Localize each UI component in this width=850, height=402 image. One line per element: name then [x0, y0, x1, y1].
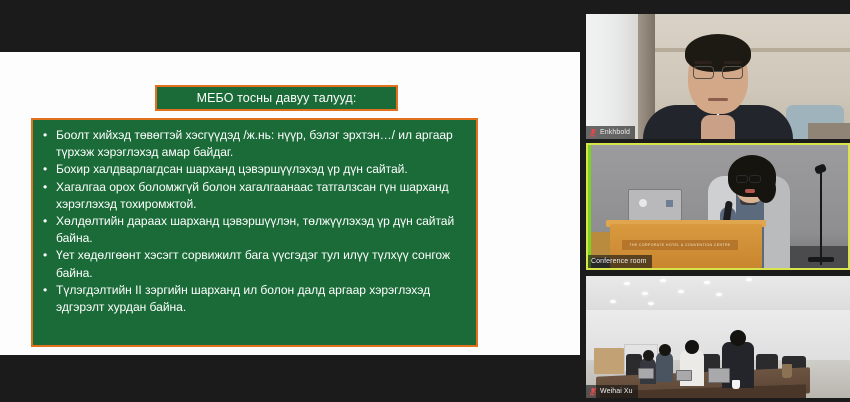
participant-name-chip-3: Weihai Xu [586, 385, 638, 398]
participant-tile-3[interactable]: Weihai Xu [586, 276, 850, 398]
attendee-head [730, 330, 746, 346]
mouth [745, 189, 755, 193]
mic-muted-icon [589, 128, 597, 138]
participant-video-feed-1 [586, 14, 850, 139]
participant-name-3: Weihai Xu [600, 385, 633, 398]
participant-name-chip-1: Enkhbold [586, 126, 635, 139]
eyeglass-bridge [714, 71, 722, 72]
ceiling-light [642, 292, 648, 295]
mouth [708, 98, 728, 101]
window-curtain [586, 14, 638, 139]
ceiling-light [678, 290, 684, 293]
participant-video-strip[interactable]: Enkhbold [580, 0, 850, 402]
participant-tile-2[interactable]: THE CORPORATE HOTEL & CONVENTION CENTRE … [586, 143, 850, 270]
video-conference-window: МЕБО тосны давуу талууд: Боолт хийхэд тө… [0, 0, 850, 402]
eyebrow-left [694, 61, 712, 64]
neck [701, 115, 735, 139]
desk-organizer [782, 364, 792, 378]
ceiling-light [704, 281, 710, 284]
speaking-indicator-2 [588, 145, 591, 268]
podium-nameplate-text: THE CORPORATE HOTEL & CONVENTION CENTRE [624, 242, 736, 248]
laptop-screen [628, 189, 682, 221]
ceiling-light [716, 293, 722, 296]
presentation-slide[interactable]: МЕБО тосны давуу талууд: Боолт хийхэд тө… [0, 52, 580, 355]
microphone-base [808, 257, 834, 262]
slide-bullet-2: Бохир халдварлагдсан шарханд цэвэршүүлэх… [40, 161, 466, 178]
laptop [708, 368, 730, 383]
shared-screen-stage[interactable]: МЕБО тосны давуу талууд: Боолт хийхэд тө… [0, 0, 580, 402]
eyeglass-left [736, 175, 748, 183]
slide-bullet-6: Түлэгдэлтийн II зэргийн шарханд ил болон… [40, 282, 466, 316]
laptop-logo-icon [639, 199, 647, 207]
participant-tile-1[interactable]: Enkhbold [586, 14, 850, 139]
attendee-head [685, 340, 699, 354]
slide-bullet-3: Хагалгаа орох боломжгүй болон хагалгаана… [40, 179, 466, 213]
mic-muted-icon [589, 387, 597, 397]
eyeglass-right [749, 175, 761, 183]
slide-bullet-5: Үет хөдөлгөөнт хэсэгт сорвижилт бага үүс… [40, 247, 466, 281]
coffee-cup [732, 380, 740, 389]
participant-video-feed-2: THE CORPORATE HOTEL & CONVENTION CENTRE [588, 145, 848, 268]
ceiling-light [746, 278, 752, 281]
slide-bullet-list: Боолт хийхэд төвөгтэй хэсгүүдэд /ж.нь: н… [40, 127, 466, 316]
participant-name-1: Enkhbold [600, 126, 630, 139]
ceiling-light [660, 279, 666, 282]
microphone-stand [820, 169, 823, 265]
laptop [638, 368, 654, 379]
participant-video-feed-3 [586, 276, 850, 398]
slide-title-box: МЕБО тосны давуу талууд: [155, 85, 398, 111]
eyeglass-right [722, 66, 743, 79]
ceiling-light [624, 282, 630, 285]
eyeglass-left [693, 66, 714, 79]
laptop-sticker [666, 200, 673, 207]
attendee-head [643, 350, 654, 361]
storage-cabinet [594, 348, 624, 374]
ceiling-light [648, 302, 654, 305]
slide-body-box: Боолт хийхэд төвөгтэй хэсгүүдэд /ж.нь: н… [31, 118, 478, 347]
side-table [808, 123, 850, 139]
attendee-head [659, 344, 671, 356]
slide-bullet-1: Боолт хийхэд төвөгтэй хэсгүүдэд /ж.нь: н… [40, 127, 466, 161]
participant-name-2: Conference room [591, 255, 647, 268]
slide-title-text: МЕБО тосны давуу талууд: [197, 91, 357, 105]
participant-name-chip-2: Conference room [588, 255, 652, 268]
ceiling-light [610, 300, 616, 303]
slide-bullet-4: Хөлдөлтийн дараах шарханд цэвэршүүлэн, т… [40, 213, 466, 247]
laptop [676, 370, 692, 381]
attendee [656, 352, 673, 382]
eyebrow-right [724, 61, 742, 64]
